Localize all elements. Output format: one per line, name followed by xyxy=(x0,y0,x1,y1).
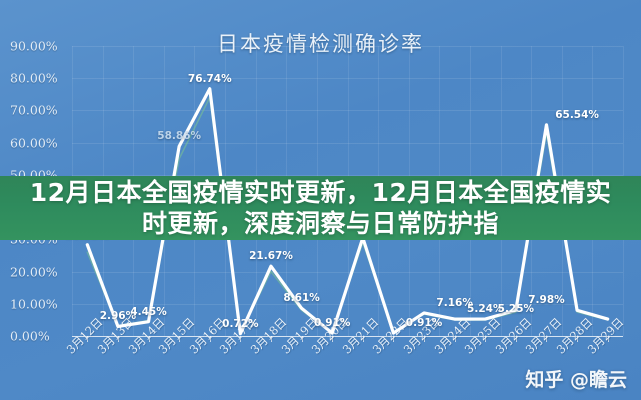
data-point-label: 58.86% xyxy=(157,130,201,142)
data-point-label: 7.98% xyxy=(528,294,564,306)
data-point-label: 76.74% xyxy=(188,73,232,85)
data-point-label: 65.54% xyxy=(555,109,599,121)
data-point-label: 0.91% xyxy=(406,317,442,329)
screenshot-root: 日本疫情检测确诊率 0.00%10.00%20.00%30.00%40.00%5… xyxy=(0,0,641,400)
data-point-label: 0.72% xyxy=(222,318,258,330)
watermark: 知乎 @瞻云 xyxy=(525,365,627,392)
overlay-headline: 12月日本全国疫情实时更新，12月日本全国疫情实时更新，深度洞察与日常防护指 xyxy=(21,177,621,239)
data-point-label: 0.91% xyxy=(314,317,350,329)
overlay-banner: 12月日本全国疫情实时更新，12月日本全国疫情实时更新，深度洞察与日常防护指 xyxy=(0,176,641,240)
data-point-label: 21.67% xyxy=(249,250,293,262)
data-point-label: 4.45% xyxy=(130,306,166,318)
data-point-label: 8.61% xyxy=(283,292,319,304)
